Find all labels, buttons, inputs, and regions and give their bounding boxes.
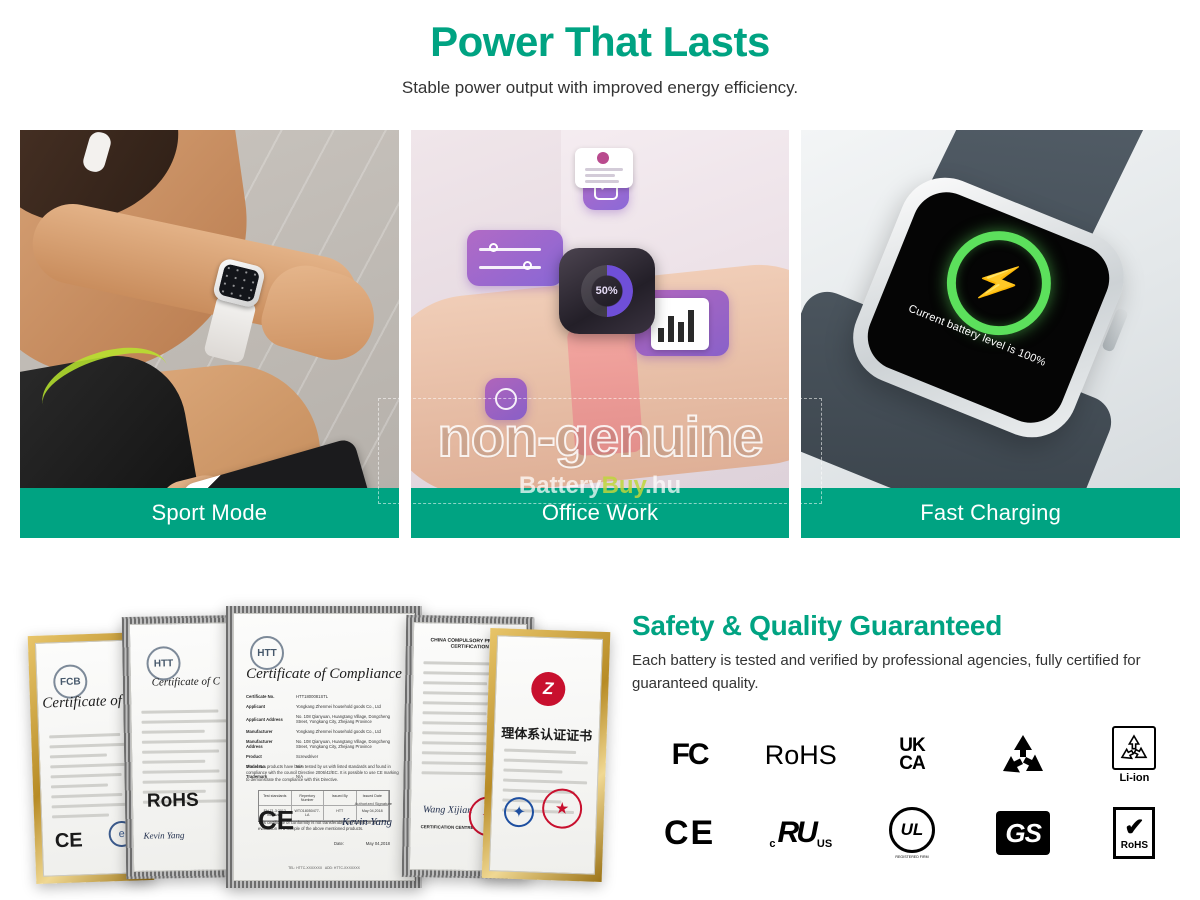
field-key: Applicant Address <box>246 717 290 722</box>
signature-label: Authorized Signature <box>355 801 392 806</box>
page-subtitle: Stable power output with improved energy… <box>0 78 1200 98</box>
certificate-paragraph: The above products have been tested by u… <box>246 764 402 783</box>
safety-title: Safety & Quality Guaranteed <box>632 610 1184 642</box>
feature-card-office-work[interactable]: ✓ 50% Office Work <box>411 130 790 538</box>
battery-percent-label: 50% <box>596 285 618 297</box>
certificate-title: 理体系认证证书 <box>494 722 599 745</box>
field-value: Screwdriver <box>296 754 402 759</box>
ce-mark: CE <box>55 829 84 853</box>
field-key: Applicant <box>246 704 290 709</box>
feature-caption-sport-mode: Sport Mode <box>20 488 399 538</box>
certificate-title: Certificate of Compliance <box>234 666 414 683</box>
field-row: Manufacturer AddressNo. 108 Qianyuan, Hu… <box>246 739 402 749</box>
field-row: ManufacturerYongkang Zhenmei household g… <box>246 729 402 734</box>
certificate-china-system[interactable]: Z 理体系认证证书 ✦ ★ <box>482 628 611 882</box>
ul-circle: UL <box>889 807 935 853</box>
fcc-badge: FC <box>634 738 745 772</box>
rohs-box: ✔ RoHS <box>1113 807 1155 859</box>
signature: Kevin Yang <box>143 830 184 841</box>
rohs-label: RoHS <box>765 740 837 771</box>
li-ion-box <box>1112 726 1156 770</box>
bottom-section: FCB Certificate of C CE e HTT Certificat… <box>0 590 1200 900</box>
field-key: Certificate No. <box>246 694 290 699</box>
z-logo: Z <box>531 671 566 706</box>
signature: Kevin Yang <box>342 816 392 828</box>
field-key: Manufacturer Address <box>246 739 290 749</box>
ul-mark: RU <box>778 816 815 850</box>
field-key: Manufacturer <box>246 729 290 734</box>
smartwatch-device: 50% <box>559 248 655 334</box>
table-cell: WTO18050477-LA <box>292 806 325 820</box>
li-ion-recycle-badge: Li-ion <box>1079 726 1190 784</box>
ul-sublabel: REGISTERED FIRM <box>889 855 935 859</box>
field-row: ApplicantYongkang Zhenmei household good… <box>246 704 402 709</box>
table-header-cell: Repertory Number <box>292 791 325 805</box>
organization-label: CERTIFICATION CENTRE <box>421 824 474 830</box>
gs-label: GS <box>1005 818 1041 849</box>
date-label: Date: <box>334 841 344 846</box>
safety-description: Each battery is tested and verified by p… <box>632 650 1184 695</box>
ul-wrapper: UL REGISTERED FIRM <box>889 807 935 859</box>
certification-badges: FC RoHS UK CA <box>634 716 1190 872</box>
ukca-badge: UK CA <box>856 737 967 773</box>
fcc-label: FC <box>672 738 708 772</box>
sport-mode-photo <box>20 130 399 488</box>
check-icon: ✔ <box>1124 816 1144 840</box>
field-row: Applicant AddressNo. 108 Qianyuan, Huang… <box>246 714 402 724</box>
watch-screen <box>218 263 261 303</box>
ce-label: CE <box>664 814 715 853</box>
app-tile-settings <box>485 378 527 420</box>
ukca-label: UK CA <box>899 737 924 773</box>
rohs-check-badge: ✔ RoHS <box>1079 807 1190 859</box>
culus-badge: c RU US <box>745 816 856 850</box>
ul-recognized-badge: UL REGISTERED FIRM <box>856 807 967 859</box>
page-header: Power That Lasts Stable power output wit… <box>0 0 1200 98</box>
li-ion-label: Li-ion <box>1112 772 1156 784</box>
blue-seal: ✦ <box>503 797 534 828</box>
rohs-text-badge: RoHS <box>745 740 856 771</box>
safety-quality-panel: Safety & Quality Guaranteed Each battery… <box>632 610 1184 695</box>
ukca-line-2: CA <box>899 755 924 773</box>
recycle-outline-icon <box>1118 733 1150 763</box>
fast-charging-photo: ⚡ Current battery level is 100% <box>801 130 1180 488</box>
red-star-seal: ★ <box>541 788 582 829</box>
culus-wrapper: c RU US <box>769 816 832 850</box>
culus-suffix: US <box>817 838 832 850</box>
ce-mark: CE <box>258 805 294 836</box>
signature: Wang Xijian <box>423 804 473 816</box>
ul-label: UL <box>901 820 924 840</box>
field-value: Yongkang Zhenmei household goods Co., Lt… <box>296 704 402 709</box>
watch-band-pink <box>566 324 643 456</box>
contact-card-widget <box>575 148 633 188</box>
certificate-stack: FCB Certificate of C CE e HTT Certificat… <box>18 600 598 890</box>
field-value: No. 108 Qianyuan, Huangtang Village, Don… <box>296 739 402 749</box>
htt-logo: HTT <box>250 636 284 670</box>
field-key: Product <box>246 754 290 759</box>
gs-badge: GS <box>968 811 1079 855</box>
badge-row-1: FC RoHS UK CA <box>634 716 1190 794</box>
app-tile-sliders <box>467 230 563 286</box>
date-value: May 04,2018 <box>366 841 390 846</box>
feature-card-sport-mode[interactable]: Sport Mode <box>20 130 399 538</box>
feature-caption-fast-charging: Fast Charging <box>801 488 1180 538</box>
field-row: ProductScrewdriver <box>246 754 402 759</box>
certificate-footer: TEL: HTTC-XXXXXXX ADD: HTTC-XXXXXXX <box>248 866 400 870</box>
li-ion-wrapper: Li-ion <box>1112 726 1156 784</box>
page-title: Power That Lasts <box>0 18 1200 66</box>
field-value: HTT1800081STL <box>296 694 402 699</box>
table-header-cell: Issued By <box>324 791 357 805</box>
feature-card-fast-charging[interactable]: ⚡ Current battery level is 100% Fast Cha… <box>801 130 1180 538</box>
rohs-footer-mark: RoHS <box>147 790 199 813</box>
feature-caption-office-work: Office Work <box>411 488 790 538</box>
bar-chart-widget <box>651 298 709 350</box>
certificate-htt-compliance[interactable]: HTT Certificate of Compliance Certificat… <box>226 606 422 888</box>
ce-badge: CE <box>634 814 745 853</box>
badge-row-2: CE c RU US UL REGISTERED FIRM <box>634 794 1190 872</box>
recycle-badge <box>968 733 1079 777</box>
field-value: No. 108 Qianyuan, Huangtang Village, Don… <box>296 714 402 724</box>
field-row: Certificate No.HTT1800081STL <box>246 694 402 699</box>
table-header-cell: Test standards <box>259 791 292 805</box>
text-lines <box>49 733 134 826</box>
gs-mark: GS <box>996 811 1050 855</box>
office-work-photo: ✓ 50% <box>411 130 790 488</box>
recycle-icon <box>999 733 1047 777</box>
feature-cards: Sport Mode ✓ <box>20 130 1180 538</box>
avatar <box>597 152 609 164</box>
certificate-title: Certificate of C <box>131 675 241 689</box>
culus-prefix: c <box>769 838 775 850</box>
rohs-label: RoHS <box>1121 840 1148 851</box>
field-value: Yongkang Zhenmei household goods Co., Lt… <box>296 729 402 734</box>
